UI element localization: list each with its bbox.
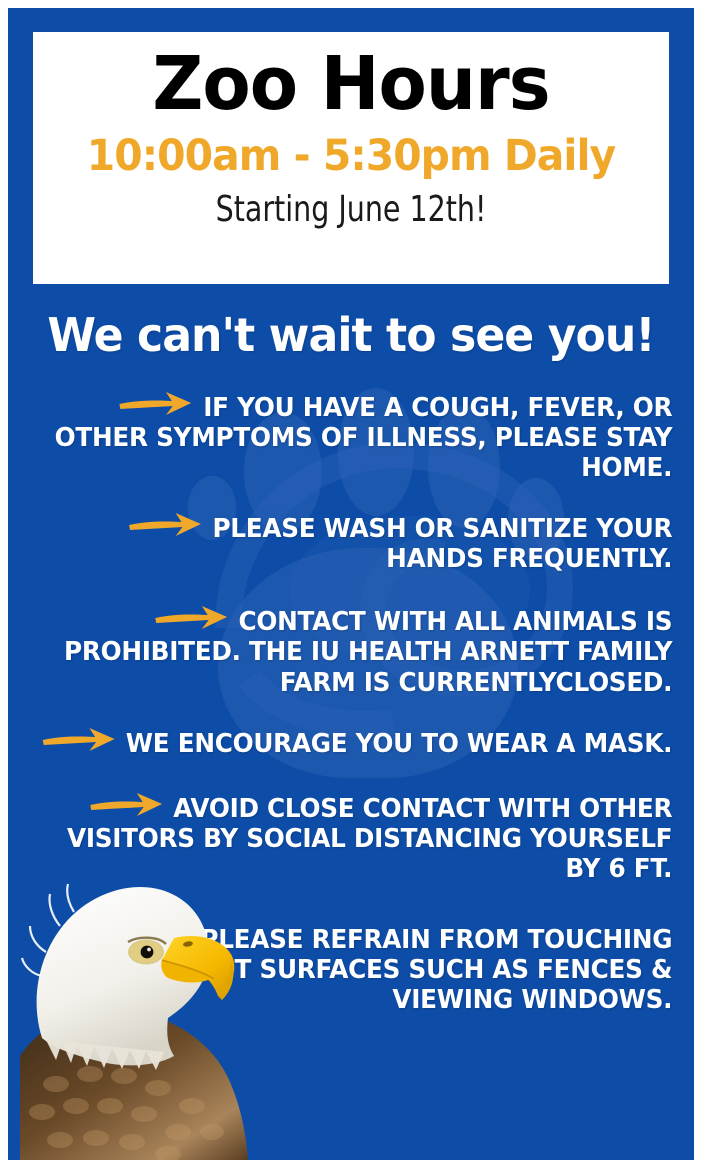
list-item: Please refrain from touching high contac… <box>38 920 678 1015</box>
guidelines-list: If you have a cough, fever, or other sym… <box>28 388 688 1015</box>
zoo-hours-text: 10:00am - 5:30pm Daily <box>49 124 653 179</box>
headline-text: We can't wait to see you! <box>22 308 681 362</box>
poster-blue-panel: Zoo Hours 10:00am - 5:30pm Daily Startin… <box>8 8 694 1160</box>
zoo-hours-card: Zoo Hours 10:00am - 5:30pm Daily Startin… <box>33 32 669 284</box>
arrow-right-icon <box>153 602 229 632</box>
list-item-label: Please wash or sanitize your hands frequ… <box>212 514 672 574</box>
list-item: Contact with all animals is prohibited. … <box>38 602 678 697</box>
list-item: Please wash or sanitize your hands frequ… <box>38 509 678 574</box>
list-item: Avoid close contact with other visitors … <box>38 789 678 884</box>
list-item: If you have a cough, fever, or other sym… <box>38 388 678 483</box>
arrow-right-icon <box>40 724 116 754</box>
zoo-hours-poster: Zoo Hours 10:00am - 5:30pm Daily Startin… <box>0 0 704 1160</box>
arrow-right-icon <box>127 509 203 539</box>
list-item-label: We encourage you to wear a mask. <box>126 729 672 759</box>
arrow-right-icon <box>88 789 164 819</box>
arrow-right-icon <box>118 388 194 418</box>
zoo-start-date-text: Starting June 12th! <box>71 179 631 229</box>
arrow-right-icon <box>115 920 191 950</box>
page-title: Zoo Hours <box>49 32 653 124</box>
list-item: We encourage you to wear a mask. <box>38 724 678 759</box>
